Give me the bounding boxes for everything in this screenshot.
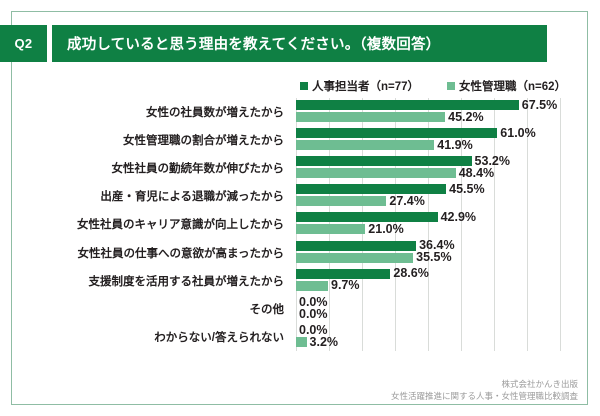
category-label: 出産・育児による退職が減ったから: [100, 182, 284, 210]
bar-value-label: 28.6%: [393, 267, 428, 280]
bar-row: 0.0%3.2%: [296, 323, 600, 351]
bar-value-label: 45.5%: [449, 183, 484, 196]
bar-row: 45.5%27.4%: [296, 182, 600, 210]
bar-value-label: 45.2%: [448, 111, 483, 124]
legend-swatch-icon: [300, 82, 308, 90]
bar-group: 0.0%: [296, 297, 600, 307]
bar-row: 36.4%35.5%: [296, 239, 600, 267]
bar-value-label: 61.0%: [500, 127, 535, 140]
bar-value-label: 21.0%: [368, 223, 403, 236]
bar[interactable]: [296, 196, 386, 206]
question-number-tag: Q2: [0, 25, 47, 62]
category-label: 女性社員のキャリア意識が向上したから: [77, 210, 284, 238]
bar[interactable]: [296, 224, 365, 234]
bar[interactable]: [296, 269, 390, 279]
bar-value-label: 41.9%: [437, 139, 472, 152]
category-label: 女性の社員数が増えたから: [146, 98, 284, 126]
bar[interactable]: [296, 253, 413, 263]
bar-group: 9.7%: [296, 281, 600, 291]
question-title-text: 成功していると思う理由を教えてください。（複数回答）: [67, 33, 440, 54]
bar-value-label: 48.4%: [459, 167, 494, 180]
bar[interactable]: [296, 212, 438, 222]
bar-group: 3.2%: [296, 337, 600, 347]
question-number-label: Q2: [15, 36, 33, 51]
legend-item[interactable]: 女性管理職（n=62）: [447, 78, 566, 94]
question-title-bar: 成功していると思う理由を教えてください。（複数回答）: [52, 25, 547, 62]
bar-value-label: 9.7%: [331, 279, 360, 292]
bar[interactable]: [296, 100, 519, 110]
source-footer: 株式会社かんき出版 女性活躍推進に関する人事・女性管理職比較調査: [391, 379, 578, 402]
source-company: 株式会社かんき出版: [391, 379, 578, 390]
legend-label: 人事担当者（n=77）: [312, 78, 419, 94]
bar-group: 35.5%: [296, 253, 600, 263]
bar-group: 53.2%: [296, 156, 600, 166]
bar[interactable]: [296, 128, 497, 138]
category-label: 支援制度を活用する社員が増えたから: [89, 267, 285, 295]
bar[interactable]: [296, 337, 307, 347]
bar-group: 45.5%: [296, 184, 600, 194]
bar-value-label: 35.5%: [416, 251, 451, 264]
bar-value-label: 0.0%: [299, 308, 328, 321]
bar-group: 0.0%: [296, 325, 600, 335]
source-survey: 女性活躍推進に関する人事・女性管理職比較調査: [391, 391, 578, 402]
bar-row: 53.2%48.4%: [296, 154, 600, 182]
bar-group: 0.0%: [296, 309, 600, 319]
chart-legend: 人事担当者（n=77）女性管理職（n=62）: [300, 78, 580, 94]
chart-plot-area: 67.5%45.2%61.0%41.9%53.2%48.4%45.5%27.4%…: [296, 98, 560, 351]
bar-value-label: 42.9%: [441, 211, 476, 224]
legend-label: 女性管理職（n=62）: [459, 78, 566, 94]
bar-group: 42.9%: [296, 212, 600, 222]
bar-row: 42.9%21.0%: [296, 210, 600, 238]
bar-row: 0.0%0.0%: [296, 295, 600, 323]
category-label-column: 女性の社員数が増えたから女性管理職の割合が増えたから女性社員の勤続年数が伸びたか…: [20, 98, 290, 351]
bar[interactable]: [296, 184, 446, 194]
bar-group: 45.2%: [296, 112, 600, 122]
category-label: 女性管理職の割合が増えたから: [123, 126, 284, 154]
bar[interactable]: [296, 140, 434, 150]
bar[interactable]: [296, 281, 328, 291]
bar-group: 61.0%: [296, 128, 600, 138]
bar[interactable]: [296, 241, 416, 251]
bar-group: 36.4%: [296, 241, 600, 251]
bar-rows: 67.5%45.2%61.0%41.9%53.2%48.4%45.5%27.4%…: [296, 98, 560, 351]
bar[interactable]: [296, 112, 445, 122]
bar-value-label: 67.5%: [522, 99, 557, 112]
category-label: その他: [250, 295, 285, 323]
bar-group: 48.4%: [296, 168, 600, 178]
bar-value-label: 3.2%: [310, 336, 339, 349]
category-label: 女性社員の仕事への意欲が高まったから: [77, 239, 284, 267]
bar-value-label: 27.4%: [389, 195, 424, 208]
bar-row: 67.5%45.2%: [296, 98, 600, 126]
bar-group: 27.4%: [296, 196, 600, 206]
bar-group: 41.9%: [296, 140, 600, 150]
bar-row: 61.0%41.9%: [296, 126, 600, 154]
bar-group: 28.6%: [296, 269, 600, 279]
bar[interactable]: [296, 156, 472, 166]
bar-group: 21.0%: [296, 224, 600, 234]
bar-group: 67.5%: [296, 100, 600, 110]
bar-row: 28.6%9.7%: [296, 267, 600, 295]
category-label: わからない/答えられない: [154, 323, 284, 351]
legend-swatch-icon: [447, 82, 455, 90]
category-label: 女性社員の勤続年数が伸びたから: [112, 154, 285, 182]
legend-item[interactable]: 人事担当者（n=77）: [300, 78, 419, 94]
bar[interactable]: [296, 168, 456, 178]
